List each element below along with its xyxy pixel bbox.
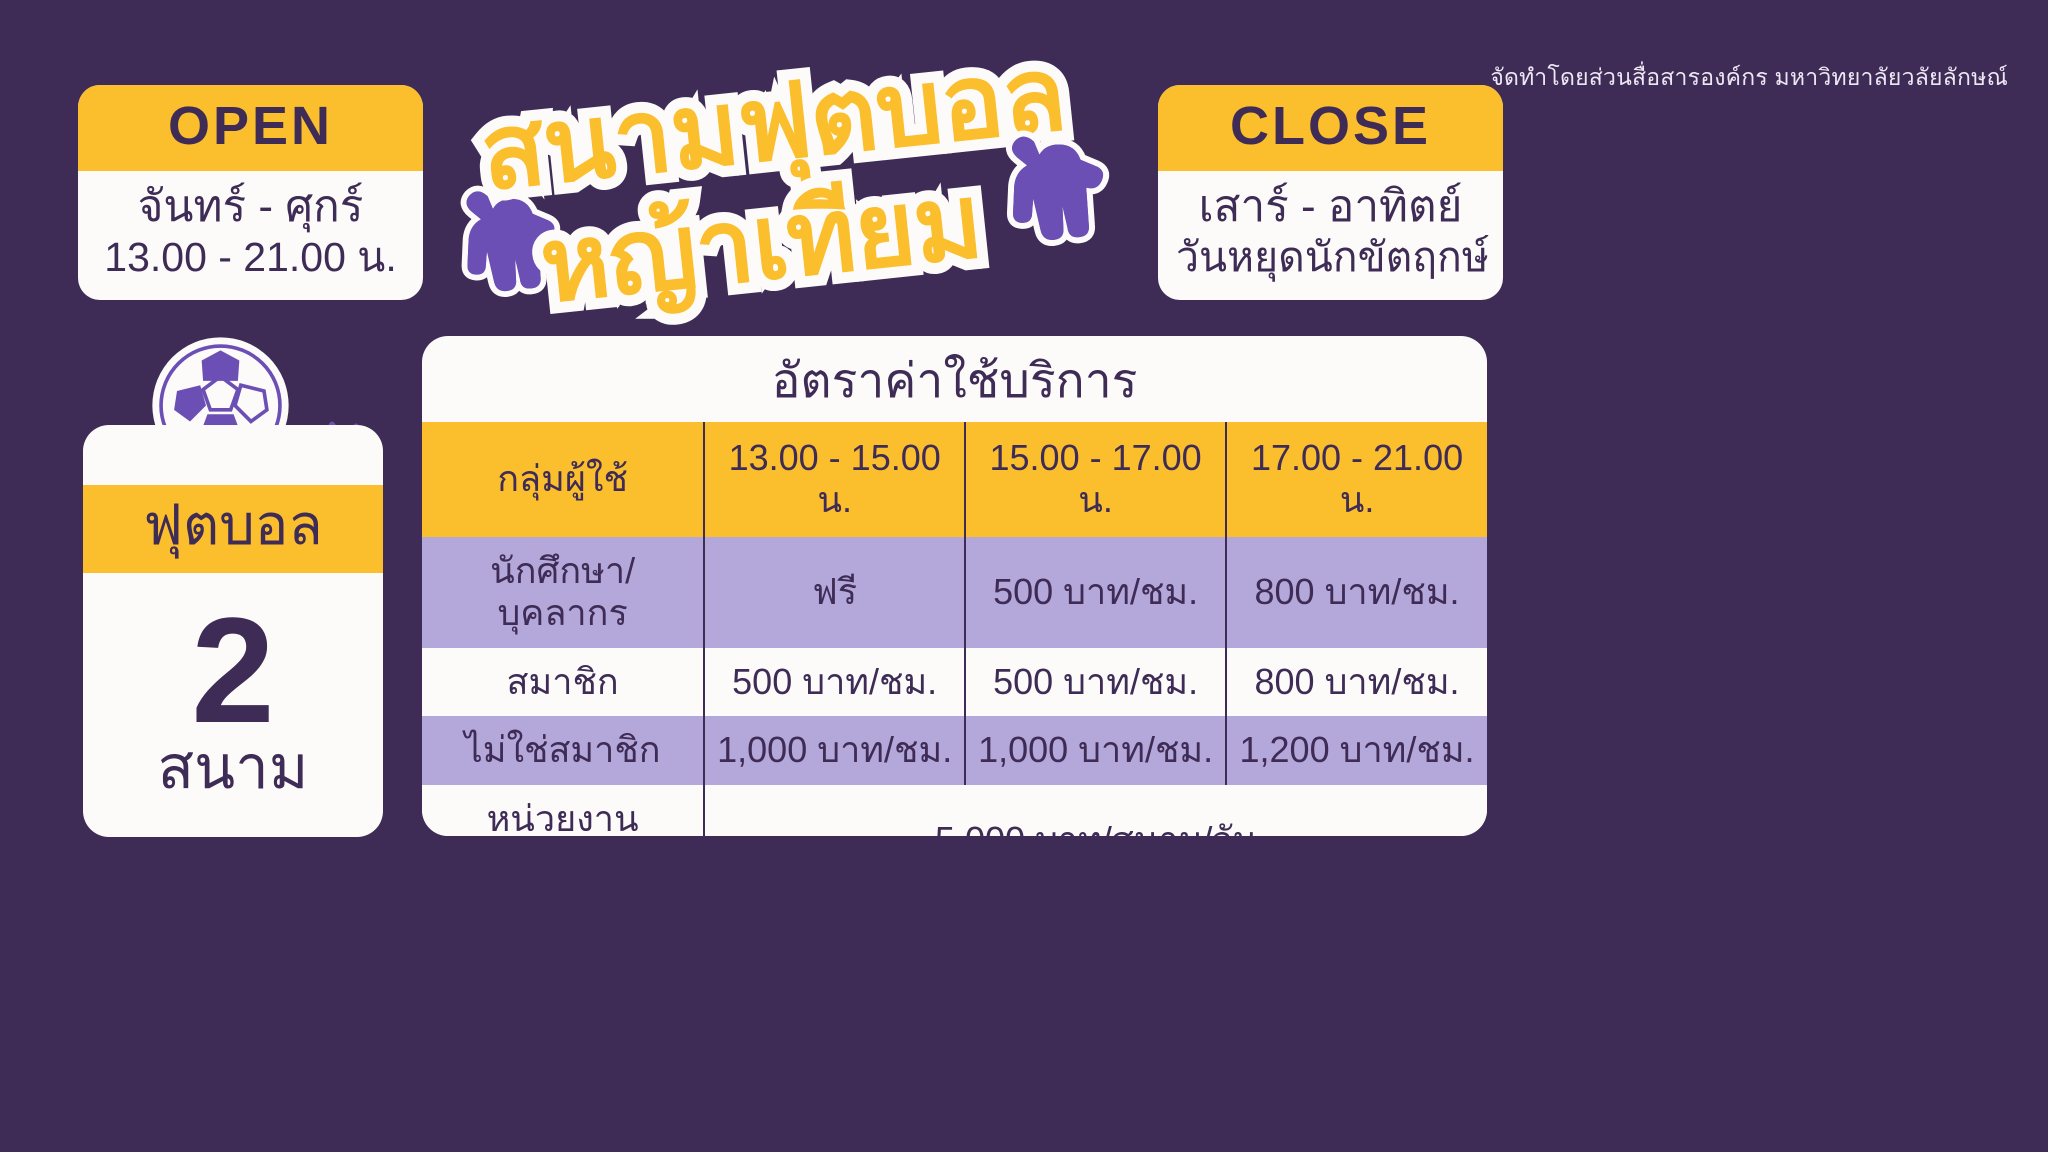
- external-group-line-1: หน่วยงาน: [428, 798, 697, 836]
- facility-sport-label: ฟุตบอล: [83, 485, 383, 573]
- facility-count-unit: สนาม: [158, 735, 309, 801]
- close-hours-card: CLOSE เสาร์ - อาทิตย์ วันหยุดนักขัตฤกษ์: [1158, 85, 1503, 300]
- row-cell: 1,000 บาท/ชม.: [704, 716, 965, 784]
- open-card-body: จันทร์ - ศุกร์ 13.00 - 21.00 น.: [78, 171, 423, 300]
- row-group-label: ไม่ใช่สมาชิก: [422, 716, 704, 784]
- row-cell: 500 บาท/ชม.: [704, 648, 965, 716]
- title-line-1: สนามฟุตบอล: [476, 42, 1070, 207]
- open-heading: OPEN: [78, 85, 423, 171]
- table-row-external: หน่วยงาน ภายนอก 5,000 บาท/สนาม/วัน: [422, 785, 1487, 836]
- muscle-flex-figure-right-icon: [992, 118, 1142, 286]
- table-row: ไม่ใช่สมาชิก 1,000 บาท/ชม. 1,000 บาท/ชม.…: [422, 716, 1487, 784]
- open-hours: 13.00 - 21.00 น.: [96, 233, 405, 281]
- row-cell: 500 บาท/ชม.: [965, 537, 1226, 648]
- facility-count-number: 2: [191, 599, 274, 742]
- row-cell: 800 บาท/ชม.: [1226, 537, 1487, 648]
- facility-card-top-spacer: [83, 425, 383, 485]
- external-rate-cell: 5,000 บาท/สนาม/วัน: [704, 785, 1487, 836]
- open-days: จันทร์ - ศุกร์: [96, 181, 405, 233]
- poster-root: จัดทำโดยส่วนสื่อสารองค์กร มหาวิทยาลัยวลั…: [0, 0, 2048, 1152]
- row-group-label: สมาชิก: [422, 648, 704, 716]
- row-group-label: นักศึกษา/บุคลากร: [422, 537, 704, 648]
- close-heading: CLOSE: [1158, 85, 1503, 171]
- close-card-body: เสาร์ - อาทิตย์ วันหยุดนักขัตฤกษ์: [1158, 171, 1503, 300]
- close-note: วันหยุดนักขัตฤกษ์: [1176, 233, 1485, 281]
- row-group-label-external: หน่วยงาน ภายนอก: [422, 785, 704, 836]
- row-cell: 1,000 บาท/ชม.: [965, 716, 1226, 784]
- table-row: สมาชิก 500 บาท/ชม. 500 บาท/ชม. 800 บาท/ช…: [422, 648, 1487, 716]
- row-cell: 1,200 บาท/ชม.: [1226, 716, 1487, 784]
- row-cell: 800 บาท/ชม.: [1226, 648, 1487, 716]
- header-slot-2: 15.00 - 17.00 น.: [965, 422, 1226, 537]
- row-cell: ฟรี: [704, 537, 965, 648]
- table-row: นักศึกษา/บุคลากร ฟรี 500 บาท/ชม. 800 บาท…: [422, 537, 1487, 648]
- facility-card-body: 2 สนาม: [83, 573, 383, 837]
- rate-table-panel: อัตราค่าใช้บริการ กลุ่มผู้ใช้ 13.00 - 15…: [422, 336, 1487, 836]
- header-slot-3: 17.00 - 21.00 น.: [1226, 422, 1487, 537]
- open-hours-card: OPEN จันทร์ - ศุกร์ 13.00 - 21.00 น.: [78, 85, 423, 300]
- header-group: กลุ่มผู้ใช้: [422, 422, 704, 537]
- close-days: เสาร์ - อาทิตย์: [1176, 181, 1485, 233]
- table-header-row: กลุ่มผู้ใช้ 13.00 - 15.00 น. 15.00 - 17.…: [422, 422, 1487, 537]
- facility-count-card: ฟุตบอล 2 สนาม: [83, 425, 383, 837]
- rate-table-title: อัตราค่าใช้บริการ: [422, 336, 1487, 422]
- poster-title: สนามฟุตบอล หญ้าเทียม: [455, 30, 1155, 320]
- organization-credit: จัดทำโดยส่วนสื่อสารองค์กร มหาวิทยาลัยวลั…: [1490, 60, 2008, 96]
- rate-table: กลุ่มผู้ใช้ 13.00 - 15.00 น. 15.00 - 17.…: [422, 422, 1487, 836]
- row-cell: 500 บาท/ชม.: [965, 648, 1226, 716]
- header-slot-1: 13.00 - 15.00 น.: [704, 422, 965, 537]
